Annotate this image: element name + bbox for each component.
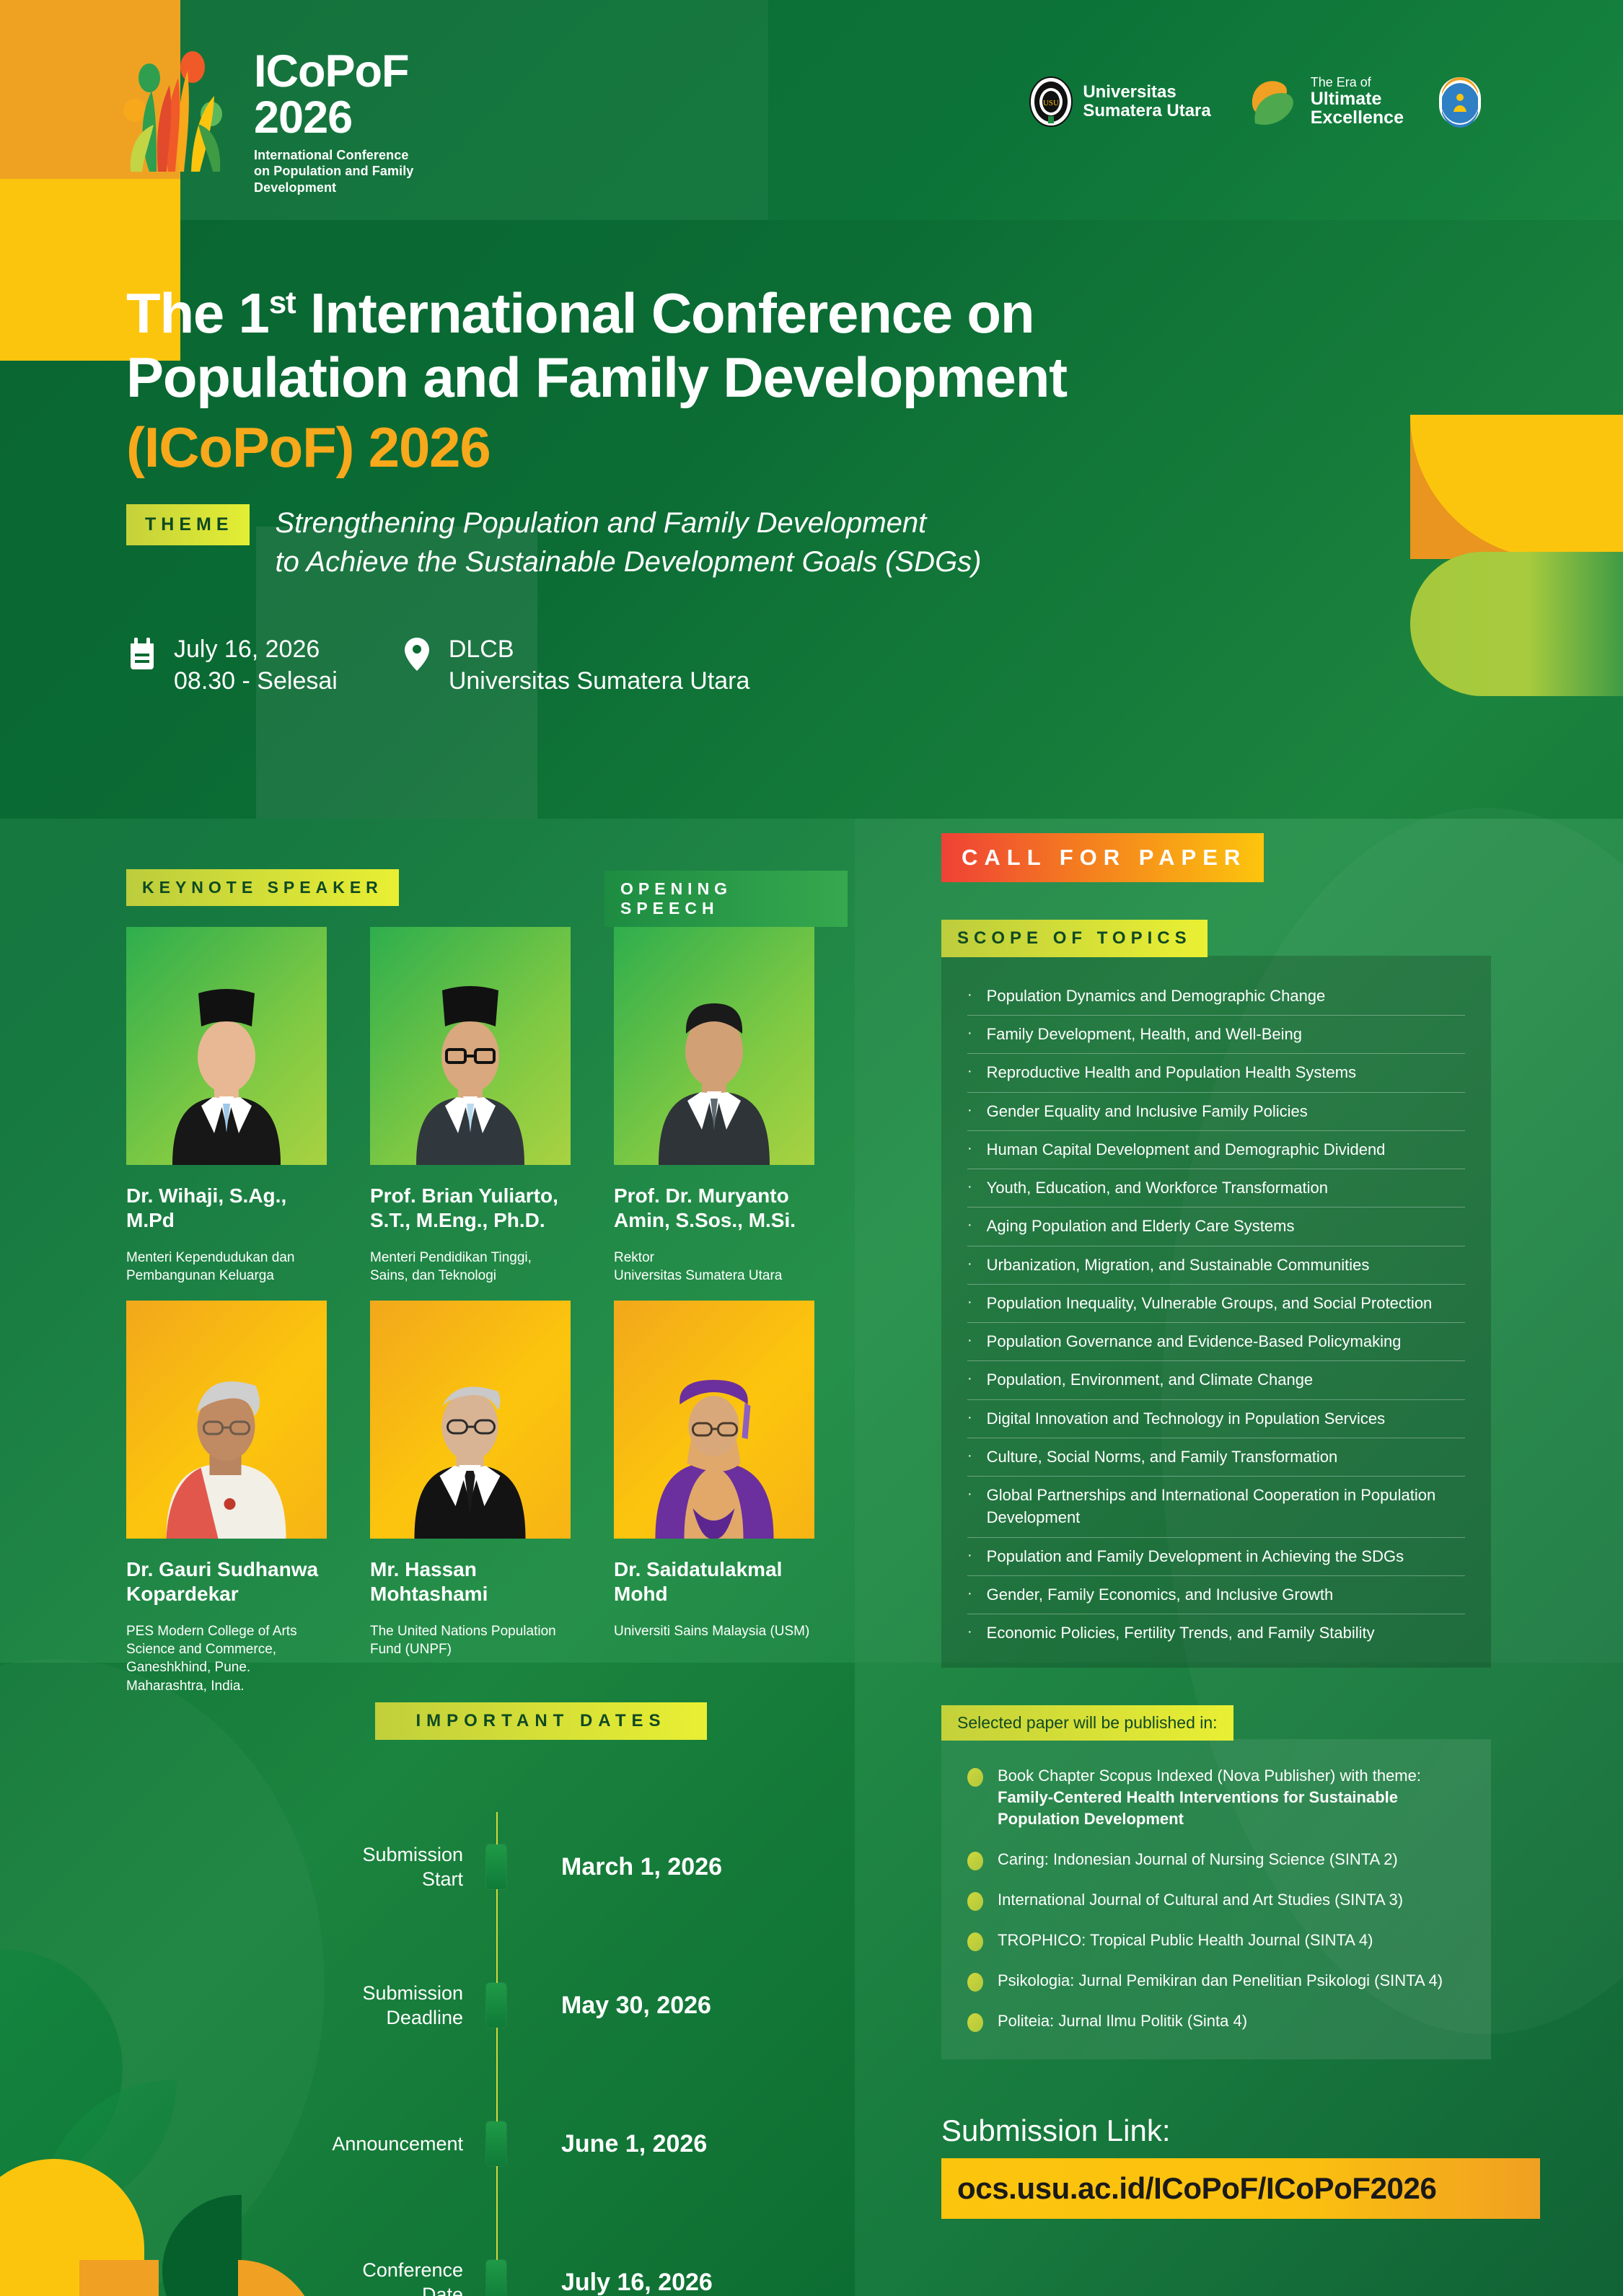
publication-item: Politeia: Jurnal Ilmu Politik (Sinta 4) bbox=[967, 2010, 1465, 2032]
bullet-icon: · bbox=[967, 1407, 972, 1428]
keynote-speaker-label: KEYNOTE SPEAKER bbox=[126, 869, 399, 906]
partner-diktisaintek bbox=[1438, 76, 1482, 128]
topic-item: ·Population, Environment, and Climate Ch… bbox=[967, 1361, 1465, 1399]
bullet-icon: · bbox=[967, 1061, 972, 1081]
bullet-icon: · bbox=[967, 1176, 972, 1197]
topic-label: Aging Population and Elderly Care System… bbox=[987, 1215, 1295, 1237]
event-date-line2: 08.30 - Selesai bbox=[174, 665, 338, 697]
publication-label: TROPHICO: Tropical Public Health Journal… bbox=[998, 1930, 1373, 1951]
timeline-date: March 1, 2026 bbox=[516, 1853, 866, 1881]
theme-line2: to Achieve the Sustainable Development G… bbox=[276, 543, 982, 582]
svg-text:USU: USU bbox=[1043, 99, 1059, 107]
topic-label: Family Development, Health, and Well-Bei… bbox=[987, 1023, 1302, 1045]
submission-link-section: Submission Link: ocs.usu.ac.id/ICoPoF/IC… bbox=[941, 2114, 1540, 2219]
bullet-icon: · bbox=[967, 1138, 972, 1158]
call-for-paper-section: CALL FOR PAPER SCOPE OF TOPICS ·Populati… bbox=[941, 833, 1504, 2059]
partner-era-line2: Ultimate bbox=[1311, 89, 1404, 108]
theme-line1: Strengthening Population and Family Deve… bbox=[276, 504, 982, 543]
publication-item: International Journal of Cultural and Ar… bbox=[967, 1889, 1465, 1911]
portrait-silhouette-icon bbox=[637, 1322, 792, 1539]
hero-section: The 1st International Conference on Popu… bbox=[126, 281, 1497, 698]
topic-item: ·Global Partnerships and International C… bbox=[967, 1477, 1465, 1537]
speaker-card: Prof. Brian Yuliarto,S.T., M.Eng., Ph.D.… bbox=[370, 927, 571, 1285]
poster-header: ICoPoF 2026 International Conferenceon P… bbox=[0, 0, 1623, 220]
publication-label: Politeia: Jurnal Ilmu Politik (Sinta 4) bbox=[998, 2010, 1247, 2032]
portrait-silhouette-icon bbox=[395, 949, 546, 1165]
opening-speech-label: OPENING SPEECH bbox=[604, 871, 848, 927]
portrait-silhouette-icon bbox=[149, 1322, 304, 1539]
portrait-silhouette-icon bbox=[393, 1322, 548, 1539]
speaker-card: Prof. Dr. MuryantoAmin, S.Sos., M.Si. Re… bbox=[614, 927, 814, 1285]
title-line1-post: International Conference on bbox=[295, 281, 1034, 345]
event-location-line1: DLCB bbox=[449, 633, 750, 665]
timeline-node bbox=[476, 1983, 516, 2028]
important-dates-badge: IMPORTANT DATES bbox=[375, 1702, 707, 1740]
bullet-icon: · bbox=[967, 1583, 972, 1604]
speaker-affiliation: The United Nations PopulationFund (UNPF) bbox=[370, 1622, 571, 1658]
portrait-silhouette-icon bbox=[638, 949, 790, 1165]
event-location: DLCB Universitas Sumatera Utara bbox=[401, 633, 750, 697]
event-date: July 16, 2026 08.30 - Selesai bbox=[126, 633, 338, 697]
publication-item: Caring: Indonesian Journal of Nursing Sc… bbox=[967, 1849, 1465, 1870]
speaker-card: Dr. Wihaji, S.Ag., M.Pd Menteri Kependud… bbox=[126, 927, 327, 1285]
partner-era-line3: Excellence bbox=[1311, 108, 1404, 127]
topic-label: Gender, Family Economics, and Inclusive … bbox=[987, 1583, 1334, 1606]
topic-label: Global Partnerships and International Co… bbox=[987, 1484, 1465, 1529]
icopof-emblem-icon bbox=[112, 35, 238, 179]
partner-usu-line1: Universitas bbox=[1083, 83, 1210, 102]
speaker-photo bbox=[370, 927, 571, 1165]
bullet-dot-icon bbox=[967, 1892, 983, 1911]
topic-item: ·Human Capital Development and Demograph… bbox=[967, 1131, 1465, 1169]
diktisaintek-berdampak-icon bbox=[1438, 76, 1482, 128]
page-title: The 1st International Conference on bbox=[126, 281, 1497, 346]
topic-item: ·Population Inequality, Vulnerable Group… bbox=[967, 1285, 1465, 1323]
speaker-card: Dr. SaidatulakmalMohd Universiti Sains M… bbox=[614, 1301, 814, 1695]
logo-year: 2026 bbox=[254, 94, 413, 141]
speaker-grid-row1: Dr. Wihaji, S.Ag., M.Pd Menteri Kependud… bbox=[126, 927, 848, 1285]
timeline-date: July 16, 2026 bbox=[516, 2269, 866, 2296]
timeline-row: ConferenceDateJuly 16, 2026 bbox=[216, 2213, 866, 2296]
topic-item: ·Reproductive Health and Population Heal… bbox=[967, 1054, 1465, 1092]
speaker-name: Mr. HassanMohtashami bbox=[370, 1557, 571, 1606]
topic-label: Population and Family Development in Ach… bbox=[987, 1545, 1404, 1567]
bullet-icon: · bbox=[967, 1330, 972, 1350]
partner-usu-line2: Sumatera Utara bbox=[1083, 102, 1210, 120]
speaker-card: Mr. HassanMohtashami The United Nations … bbox=[370, 1301, 571, 1695]
logo-subtitle: International Conferenceon Population an… bbox=[254, 147, 413, 196]
bullet-dot-icon bbox=[967, 1973, 983, 1992]
icopof-logo: ICoPoF 2026 International Conferenceon P… bbox=[112, 35, 413, 195]
publication-item: Book Chapter Scopus Indexed (Nova Publis… bbox=[967, 1765, 1465, 1830]
timeline-node bbox=[476, 1844, 516, 1889]
topic-label: Economic Policies, Fertility Trends, and… bbox=[987, 1622, 1375, 1644]
publications-list: Book Chapter Scopus Indexed (Nova Publis… bbox=[941, 1739, 1491, 2059]
publication-label: Book Chapter Scopus Indexed (Nova Publis… bbox=[998, 1765, 1465, 1830]
speaker-affiliation: RektorUniversitas Sumatera Utara bbox=[614, 1249, 814, 1285]
topic-item: ·Gender, Family Economics, and Inclusive… bbox=[967, 1576, 1465, 1614]
conference-poster: ICoPoF 2026 International Conferenceon P… bbox=[0, 0, 1623, 2296]
topic-label: Human Capital Development and Demographi… bbox=[987, 1138, 1386, 1161]
location-pin-icon bbox=[401, 636, 433, 672]
partner-ultimate-excellence: The Era of Ultimate Excellence bbox=[1245, 76, 1404, 128]
calendar-icon bbox=[126, 636, 158, 672]
publication-item: TROPHICO: Tropical Public Health Journal… bbox=[967, 1930, 1465, 1951]
bullet-dot-icon bbox=[967, 1852, 983, 1870]
topic-item: ·Gender Equality and Inclusive Family Po… bbox=[967, 1093, 1465, 1131]
topic-item: ·Digital Innovation and Technology in Po… bbox=[967, 1400, 1465, 1438]
title-ordinal: st bbox=[269, 285, 296, 320]
publication-item: Psikologia: Jurnal Pemikiran dan Penelit… bbox=[967, 1970, 1465, 1992]
topic-label: Population Inequality, Vulnerable Groups… bbox=[987, 1292, 1433, 1314]
publication-label: Caring: Indonesian Journal of Nursing Sc… bbox=[998, 1849, 1398, 1870]
theme-text: Strengthening Population and Family Deve… bbox=[276, 504, 982, 581]
event-location-line2: Universitas Sumatera Utara bbox=[449, 665, 750, 697]
topic-label: Urbanization, Migration, and Sustainable… bbox=[987, 1254, 1370, 1276]
speaker-photo bbox=[370, 1301, 571, 1539]
timeline-date: June 1, 2026 bbox=[516, 2130, 866, 2158]
partner-logos: USU Universitas Sumatera Utara The Era o… bbox=[1029, 76, 1482, 128]
speaker-photo bbox=[614, 1301, 814, 1539]
speaker-card: Dr. Gauri SudhanwaKopardekar PES Modern … bbox=[126, 1301, 327, 1695]
speaker-affiliation: Universiti Sains Malaysia (USM) bbox=[614, 1622, 814, 1640]
timeline-label: Announcement bbox=[216, 2132, 476, 2156]
bullet-icon: · bbox=[967, 1100, 972, 1120]
topic-label: Population, Environment, and Climate Cha… bbox=[987, 1368, 1314, 1391]
topic-label: Gender Equality and Inclusive Family Pol… bbox=[987, 1100, 1308, 1122]
speaker-name: Prof. Dr. MuryantoAmin, S.Sos., M.Si. bbox=[614, 1184, 814, 1233]
bullet-dot-icon bbox=[967, 2013, 983, 2032]
speaker-photo bbox=[126, 1301, 327, 1539]
timeline-label: ConferenceDate bbox=[216, 2258, 476, 2296]
bullet-icon: · bbox=[967, 1292, 972, 1312]
theme-badge: THEME bbox=[126, 504, 250, 545]
topic-label: Digital Innovation and Technology in Pop… bbox=[987, 1407, 1385, 1430]
topic-label: Culture, Social Norms, and Family Transf… bbox=[987, 1446, 1338, 1468]
speaker-affiliation: Menteri Pendidikan Tinggi,Sains, dan Tek… bbox=[370, 1249, 571, 1285]
bullet-icon: · bbox=[967, 1215, 972, 1235]
topic-item: ·Population and Family Development in Ac… bbox=[967, 1538, 1465, 1576]
topic-label: Population Dynamics and Demographic Chan… bbox=[987, 985, 1326, 1007]
timeline-label: SubmissionDeadline bbox=[216, 1981, 476, 2030]
bullet-icon: · bbox=[967, 1023, 972, 1043]
publication-label: Psikologia: Jurnal Pemikiran dan Penelit… bbox=[998, 1970, 1443, 1992]
call-for-paper-badge: CALL FOR PAPER bbox=[941, 833, 1264, 882]
usu-seal-icon: USU bbox=[1029, 76, 1073, 128]
speaker-affiliation: PES Modern College of ArtsScience and Co… bbox=[126, 1622, 327, 1694]
timeline-row: SubmissionDeadlineMay 30, 2026 bbox=[216, 1936, 866, 2075]
speaker-name: Dr. Gauri SudhanwaKopardekar bbox=[126, 1557, 327, 1606]
speaker-section-labels: KEYNOTE SPEAKER OPENING SPEECH bbox=[126, 869, 848, 906]
topic-item: ·Culture, Social Norms, and Family Trans… bbox=[967, 1438, 1465, 1477]
scope-of-topics-badge: SCOPE OF TOPICS bbox=[941, 920, 1208, 957]
event-meta: July 16, 2026 08.30 - Selesai DLCB Unive… bbox=[126, 633, 1497, 697]
important-dates-section: IMPORTANT DATES SubmissionStartMarch 1, … bbox=[216, 1702, 866, 2296]
bullet-icon: · bbox=[967, 1484, 972, 1504]
event-date-line1: July 16, 2026 bbox=[174, 633, 338, 665]
title-acronym: (ICoPoF) 2026 bbox=[126, 410, 1497, 485]
speaker-name: Dr. Wihaji, S.Ag., M.Pd bbox=[126, 1184, 327, 1233]
partner-era-line1: The Era of bbox=[1311, 76, 1404, 89]
speaker-grid-row2: Dr. Gauri SudhanwaKopardekar PES Modern … bbox=[126, 1301, 848, 1695]
topic-item: ·Urbanization, Migration, and Sustainabl… bbox=[967, 1246, 1465, 1285]
topic-label: Youth, Education, and Workforce Transfor… bbox=[987, 1176, 1328, 1199]
timeline-row: SubmissionStartMarch 1, 2026 bbox=[216, 1798, 866, 1936]
partner-usu: USU Universitas Sumatera Utara bbox=[1029, 76, 1210, 128]
bullet-icon: · bbox=[967, 1446, 972, 1466]
bullet-dot-icon bbox=[967, 1768, 983, 1787]
topic-item: ·Youth, Education, and Workforce Transfo… bbox=[967, 1169, 1465, 1208]
topic-item: ·Population Dynamics and Demographic Cha… bbox=[967, 977, 1465, 1016]
topic-item: ·Economic Policies, Fertility Trends, an… bbox=[967, 1614, 1465, 1652]
bullet-icon: · bbox=[967, 1254, 972, 1274]
publication-label: International Journal of Cultural and Ar… bbox=[998, 1889, 1403, 1911]
timeline-label: SubmissionStart bbox=[216, 1842, 476, 1891]
speaker-name: Prof. Brian Yuliarto,S.T., M.Eng., Ph.D. bbox=[370, 1184, 571, 1233]
publications-badge: Selected paper will be published in: bbox=[941, 1705, 1233, 1741]
theme-row: THEME Strengthening Population and Famil… bbox=[126, 504, 1497, 581]
speaker-name: Dr. SaidatulakmalMohd bbox=[614, 1557, 814, 1606]
topic-item: ·Family Development, Health, and Well-Be… bbox=[967, 1016, 1465, 1054]
dates-timeline: SubmissionStartMarch 1, 2026SubmissionDe… bbox=[216, 1798, 866, 2296]
bullet-icon: · bbox=[967, 1368, 972, 1389]
timeline-node bbox=[476, 2121, 516, 2166]
timeline-date: May 30, 2026 bbox=[516, 1992, 866, 2020]
timeline-node bbox=[476, 2260, 516, 2296]
bullet-icon: · bbox=[967, 985, 972, 1005]
topics-list: ·Population Dynamics and Demographic Cha… bbox=[941, 956, 1491, 1668]
bullet-icon: · bbox=[967, 1545, 972, 1565]
title-line1-pre: The 1 bbox=[126, 281, 269, 345]
speaker-photo bbox=[126, 927, 327, 1165]
topic-item: ·Population Governance and Evidence-Base… bbox=[967, 1323, 1465, 1361]
topic-item: ·Aging Population and Elderly Care Syste… bbox=[967, 1208, 1465, 1246]
speaker-affiliation: Menteri Kependudukan danPembangunan Kelu… bbox=[126, 1249, 327, 1285]
bullet-dot-icon bbox=[967, 1932, 983, 1951]
speaker-photo bbox=[614, 927, 814, 1165]
logo-title: ICoPoF bbox=[254, 50, 413, 94]
title-line2: Population and Family Development bbox=[126, 346, 1497, 410]
portrait-silhouette-icon bbox=[151, 949, 302, 1165]
hand-leaf-icon bbox=[1245, 76, 1301, 128]
submission-link-url[interactable]: ocs.usu.ac.id/ICoPoF/ICoPoF2026 bbox=[941, 2158, 1540, 2219]
submission-link-label: Submission Link: bbox=[941, 2114, 1540, 2148]
bullet-icon: · bbox=[967, 1622, 972, 1642]
timeline-row: AnnouncementJune 1, 2026 bbox=[216, 2075, 866, 2213]
topic-label: Reproductive Health and Population Healt… bbox=[987, 1061, 1356, 1083]
topic-label: Population Governance and Evidence-Based… bbox=[987, 1330, 1402, 1352]
